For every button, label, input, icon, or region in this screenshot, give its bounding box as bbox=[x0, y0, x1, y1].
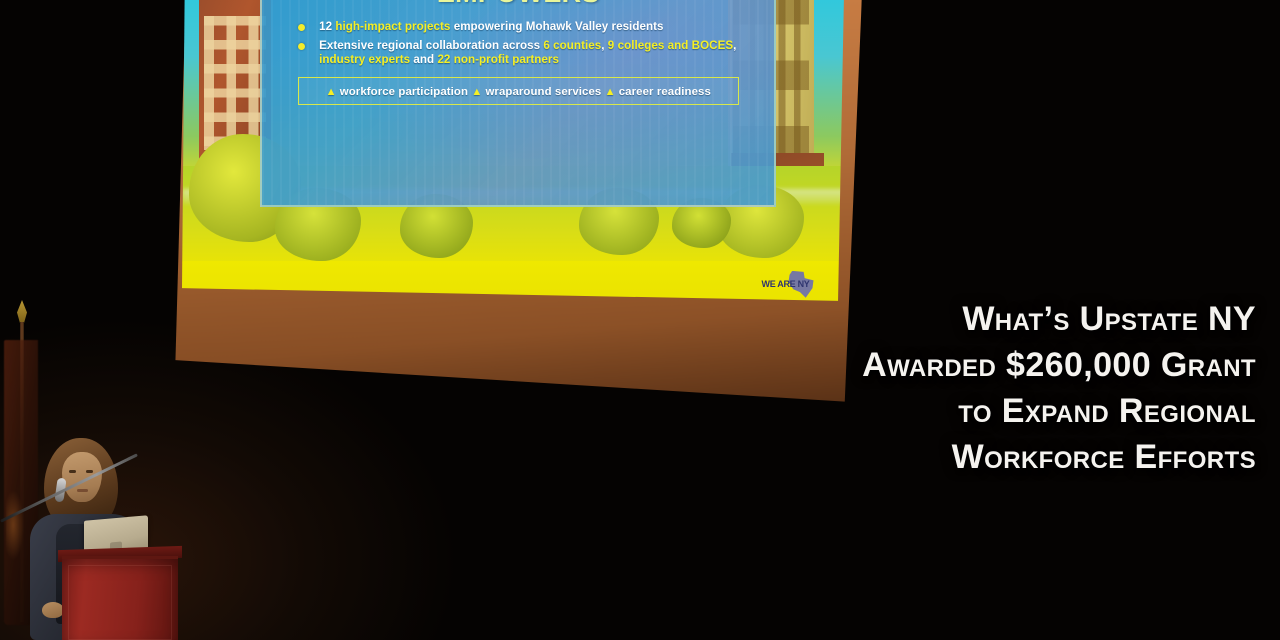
bullet-dot-icon bbox=[298, 24, 305, 31]
triangle-marker-icon: ▲ bbox=[326, 86, 340, 98]
speaker-hand bbox=[42, 602, 64, 618]
speaker-eye-left bbox=[69, 470, 76, 473]
headline-line-1: What’s Upstate NY bbox=[736, 296, 1256, 342]
headline-line-2: Awarded $260,000 Grant bbox=[736, 342, 1256, 388]
headline-overlay: What’s Upstate NY Awarded $260,000 Grant… bbox=[736, 296, 1256, 480]
bullet-text-1: 12 high-impact projects empowering Mohaw… bbox=[319, 20, 663, 34]
triangle-marker-icon: ▲ bbox=[605, 86, 619, 98]
slide-highlight-text: ▲ workforce participation ▲ wraparound s… bbox=[326, 86, 711, 98]
bullet-text-2: Extensive regional collaboration across … bbox=[319, 39, 774, 67]
slide-bullet-list: 12 high-impact projects empowering Mohaw… bbox=[298, 20, 774, 67]
slide-title: MOHAWK VALLEY EMPOWERS bbox=[262, 0, 774, 7]
list-item: Extensive regional collaboration across … bbox=[298, 39, 774, 67]
bullet-dot-icon bbox=[298, 43, 305, 50]
slide-title-line2: EMPOWERS bbox=[262, 0, 774, 7]
podium bbox=[62, 556, 178, 640]
headline-line-4: Workforce Efforts bbox=[736, 434, 1256, 480]
speaker-eye-right bbox=[86, 470, 93, 473]
slide-content-panel: MOHAWK VALLEY EMPOWERS 12 high-impact pr… bbox=[260, 0, 776, 207]
slide-highlight-box: ▲ workforce participation ▲ wraparound s… bbox=[298, 77, 739, 105]
we-are-ny-logo-text: WE ARE NY bbox=[762, 279, 822, 289]
list-item: 12 high-impact projects empowering Mohaw… bbox=[298, 20, 774, 34]
news-photo-scene: MOHAWK VALLEY EMPOWERS 12 high-impact pr… bbox=[0, 0, 1280, 640]
triangle-marker-icon: ▲ bbox=[471, 86, 485, 98]
presentation-slide: MOHAWK VALLEY EMPOWERS 12 high-impact pr… bbox=[182, 0, 844, 312]
headline-line-3: to Expand Regional bbox=[736, 388, 1256, 434]
